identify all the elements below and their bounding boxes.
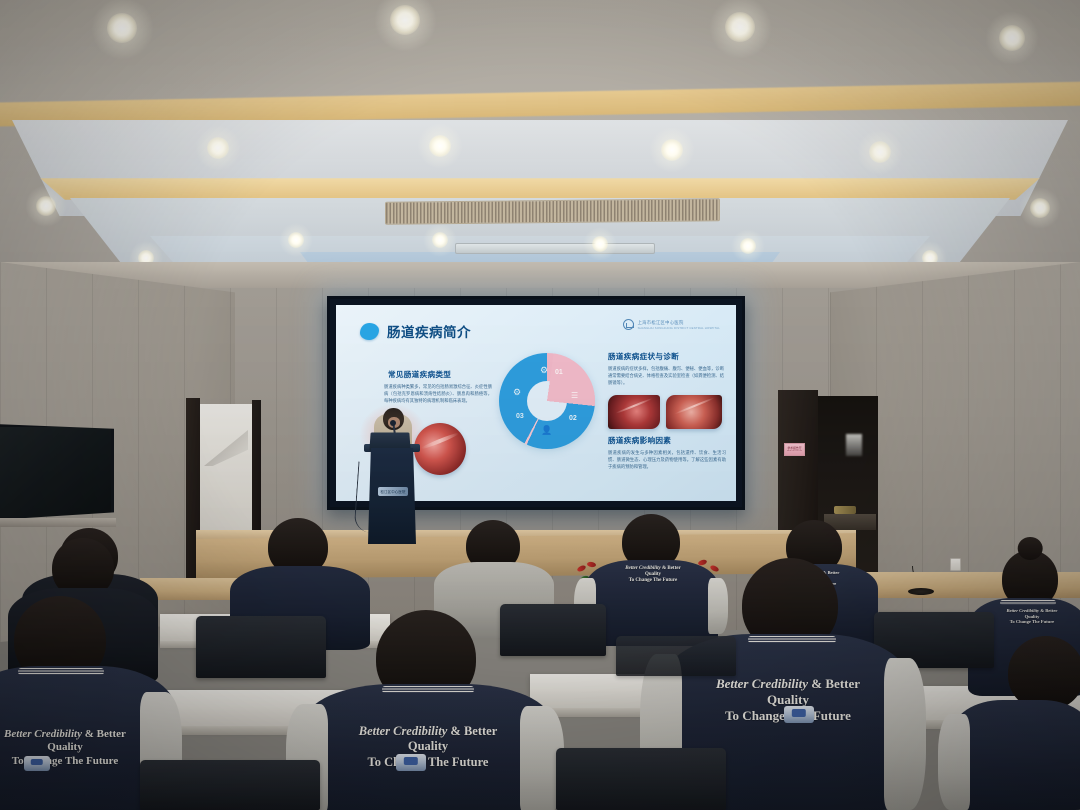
donut-person-icon: 👤 xyxy=(541,425,552,436)
downlight-row3-4 xyxy=(740,238,756,254)
slide-title: 肠道疾病简介 xyxy=(387,321,471,341)
robot-mascot-icon xyxy=(24,756,50,771)
hospital-name: 上海市松江区中心医院 xyxy=(638,320,684,325)
chair-back-mid[interactable] xyxy=(500,604,606,656)
chair-mid[interactable] xyxy=(616,636,736,676)
slide-left-body: 肠道疾病种类繁多，常见的包括肠易激综合征、炎症性肠病（包括克罗恩病和溃疡性结肠炎… xyxy=(384,383,492,404)
display-shelf xyxy=(0,518,116,527)
ceiling-cove-light-1 xyxy=(40,178,1040,200)
conference-room-photo: 学术报告厅 MEETING ROOM 肠道疾病简介 上海市松江区中心医院 SHA… xyxy=(0,0,1080,810)
hvac-vent-grille xyxy=(385,198,720,225)
hospital-name-en: SHANGHAI SONGJIANG DISTRICT CENTRAL HOSP… xyxy=(638,326,720,330)
adjacent-room-window xyxy=(846,434,862,456)
attendee-sleeve xyxy=(708,578,728,634)
robot-mascot-icon xyxy=(784,706,814,723)
wall-mounted-display[interactable] xyxy=(0,424,114,520)
slide-title-group: 肠道疾病简介 xyxy=(360,321,471,341)
donut-diagram: ⚙ 01 ☰ 02 👤 03 ⚙ xyxy=(499,353,595,449)
donut-gear-icon: ⚙ xyxy=(540,365,548,376)
slide-right-heading-2: 肠道疾病影响因素 xyxy=(608,435,671,446)
endoscopy-highlight xyxy=(421,431,459,449)
downlight-row2-4 xyxy=(869,141,891,163)
door-sign: 学术报告厅 MEETING ROOM xyxy=(784,443,805,456)
attendee-collar xyxy=(748,636,836,643)
endoscopy-image-right-2 xyxy=(666,395,722,429)
attendee-collar xyxy=(382,686,474,693)
attendee-torso xyxy=(952,700,1080,810)
attendee-sleeve xyxy=(884,658,926,810)
podium-emblem: 松江区中心医院 xyxy=(378,487,408,496)
donut-gear-icon-2: ⚙ xyxy=(513,387,521,398)
attendee-sleeve xyxy=(938,714,970,810)
donut-number-03: 03 xyxy=(516,413,524,420)
downlight-row3-2 xyxy=(432,232,448,248)
chair-back-left[interactable] xyxy=(196,616,326,678)
attendee-collar xyxy=(18,668,104,675)
title-bullet-icon xyxy=(360,323,379,340)
downlight-row3-3 xyxy=(592,236,608,252)
downlight-row1-3 xyxy=(725,12,755,42)
donut-number-01: 01 xyxy=(555,369,563,376)
attendee-head xyxy=(1008,636,1080,710)
downlight-row1-2 xyxy=(390,5,420,35)
endoscopy-highlight-2 xyxy=(615,398,653,415)
slide-right-heading-1: 肠道疾病症状与诊断 xyxy=(608,351,679,362)
adjacent-room-items xyxy=(834,506,856,514)
downlight-row2-1 xyxy=(207,137,229,159)
downlight-row2-2 xyxy=(429,135,451,157)
chair-front-left[interactable] xyxy=(140,760,320,810)
downlight-row1-1 xyxy=(107,13,137,43)
slide-left-heading: 常见肠道疾病类型 xyxy=(388,369,451,380)
podium xyxy=(368,448,416,544)
plant-leaf xyxy=(576,564,586,572)
robot-mascot-icon xyxy=(396,754,426,771)
chair-front-center[interactable] xyxy=(556,748,726,810)
plant-leaf xyxy=(587,561,597,567)
hospital-logo-text: 上海市松江区中心医院 SHANGHAI SONGJIANG DISTRICT C… xyxy=(638,320,720,330)
endoscopy-image-left xyxy=(414,423,466,475)
donut-number-02: 02 xyxy=(569,415,577,422)
attendee-collar xyxy=(1000,600,1056,605)
left-doorway-shadow xyxy=(204,430,248,466)
downlight-row3-1 xyxy=(288,232,304,248)
downlight-row2-3 xyxy=(661,139,683,161)
hospital-logo-mark-icon xyxy=(623,319,634,330)
hospital-logo: 上海市松江区中心医院 SHANGHAI SONGJIANG DISTRICT C… xyxy=(623,319,720,330)
endoscopy-image-right-1 xyxy=(608,395,660,429)
slide-right-body-2: 肠道疾病的发生与多种因素相关，包括遗传、饮食、生活习惯、肠道微生态、心理压力及药… xyxy=(608,449,726,470)
microphone-head-icon xyxy=(390,420,396,426)
cable-grommet xyxy=(908,588,934,595)
downlight-row2-5 xyxy=(36,196,56,216)
donut-list-icon: ☰ xyxy=(571,391,578,400)
endoscopy-highlight-3 xyxy=(674,397,714,415)
downlight-row1-4 xyxy=(999,25,1025,51)
downlight-row2-6 xyxy=(1030,198,1050,218)
hvac-vent-slim xyxy=(455,243,655,254)
attendee-torso xyxy=(304,684,552,810)
slide-right-body-1: 肠道疾病的症状多样，包括腹痛、腹泻、便秘、便血等，诊断通常需要结合病史、体格检查… xyxy=(608,365,724,386)
door-sign-subtext: MEETING ROOM xyxy=(787,450,802,452)
